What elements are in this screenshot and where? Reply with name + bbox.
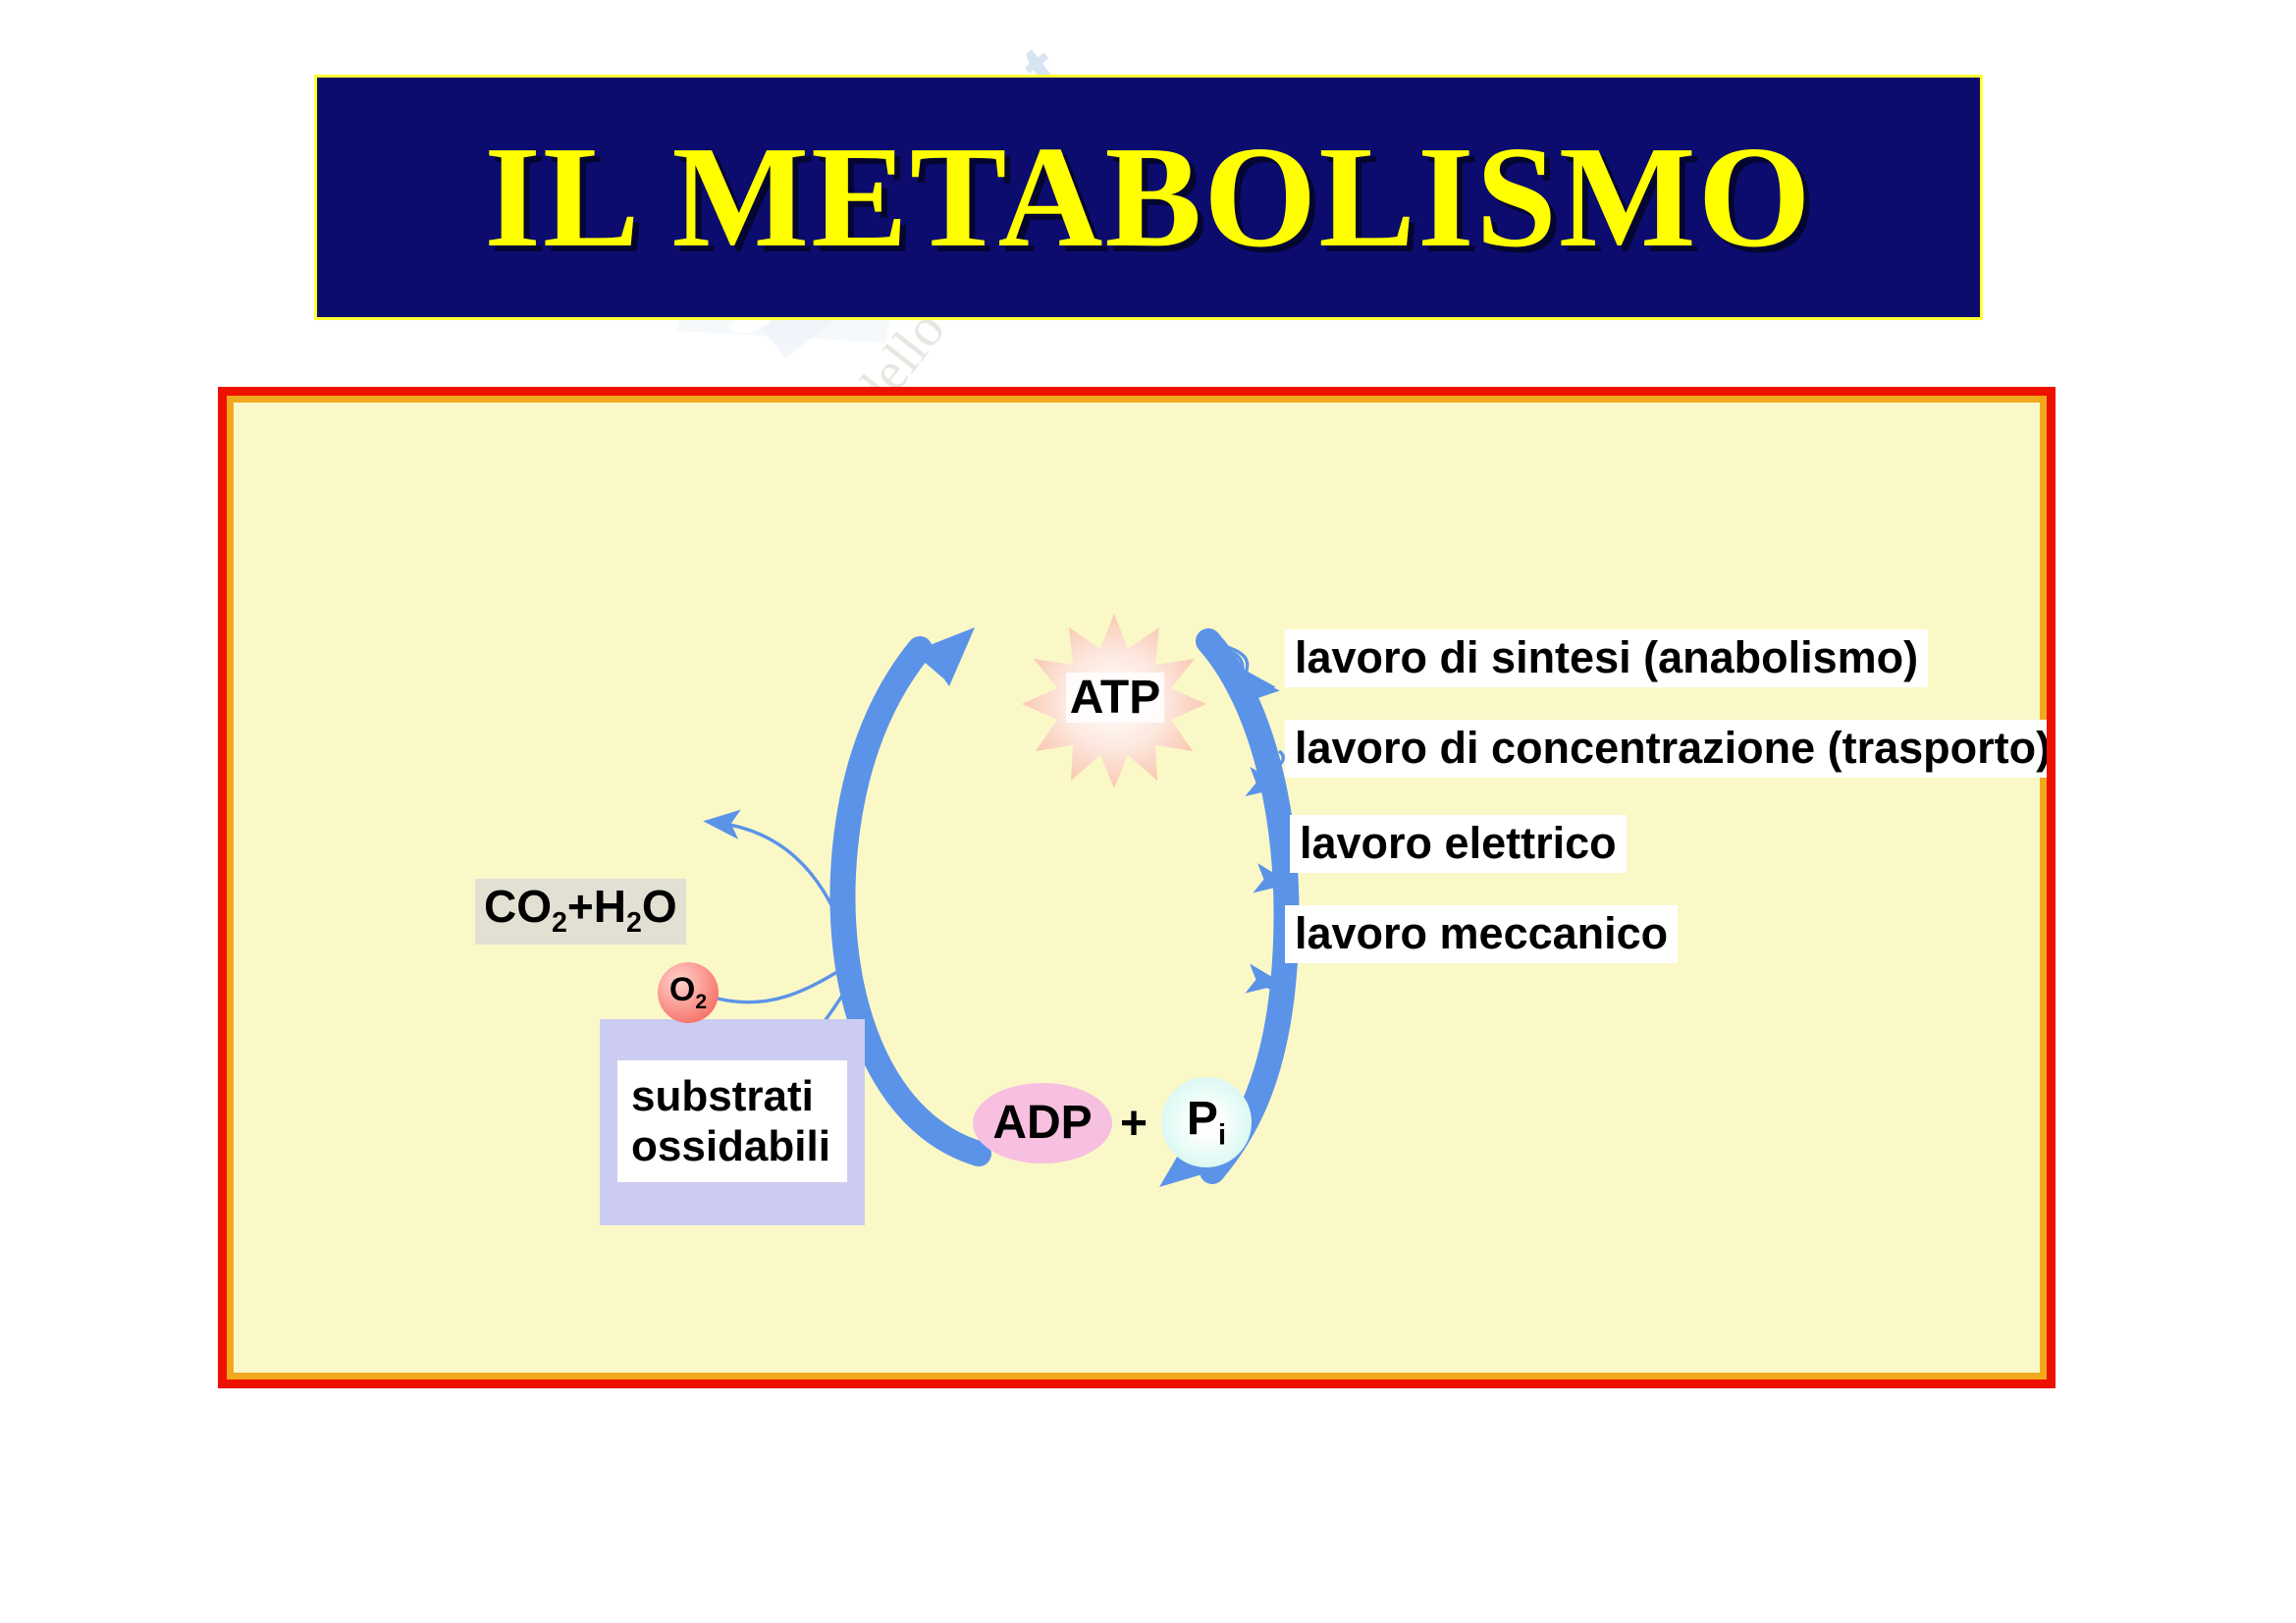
substrates-line2: ossidabili [631,1121,847,1171]
work-output-electrical: lavoro elettrico [1290,815,1627,873]
waste-products-label: CO2+H2O [475,879,686,945]
inorganic-phosphate-label: Pi [1161,1077,1252,1167]
title-banner: IL METABOLISMO [314,75,1983,320]
adp-text: ADP [992,1098,1092,1149]
page-title: IL METABOLISMO [484,125,1812,270]
metabolism-diagram: CO2+H2O O2 substrati ossidabili ATP ADP … [227,396,2047,1380]
work-output-synthesis: lavoro di sintesi (anabolismo) [1285,629,1928,687]
oxygen-symbol: O2 [669,972,707,1014]
substrates-inner: substrati ossidabili [617,1060,847,1182]
work-output-concentration: lavoro di concentrazione (trasporto) [1285,720,2047,778]
atp-text: ATP [1066,673,1164,724]
work-output-mechanical: lavoro meccanico [1285,905,1678,963]
substrates-line1: substrati [631,1071,847,1121]
atp-label: ATP [1022,622,1208,774]
adp-label: ADP [973,1083,1112,1163]
plus-sign: + [1120,1099,1148,1150]
diagram-frame: CO2+H2O O2 substrati ossidabili ATP ADP … [218,387,2056,1388]
oxygen-molecule: O2 [658,962,719,1023]
substrates-box: substrati ossidabili [600,1019,865,1225]
pi-symbol: Pi [1187,1094,1226,1152]
